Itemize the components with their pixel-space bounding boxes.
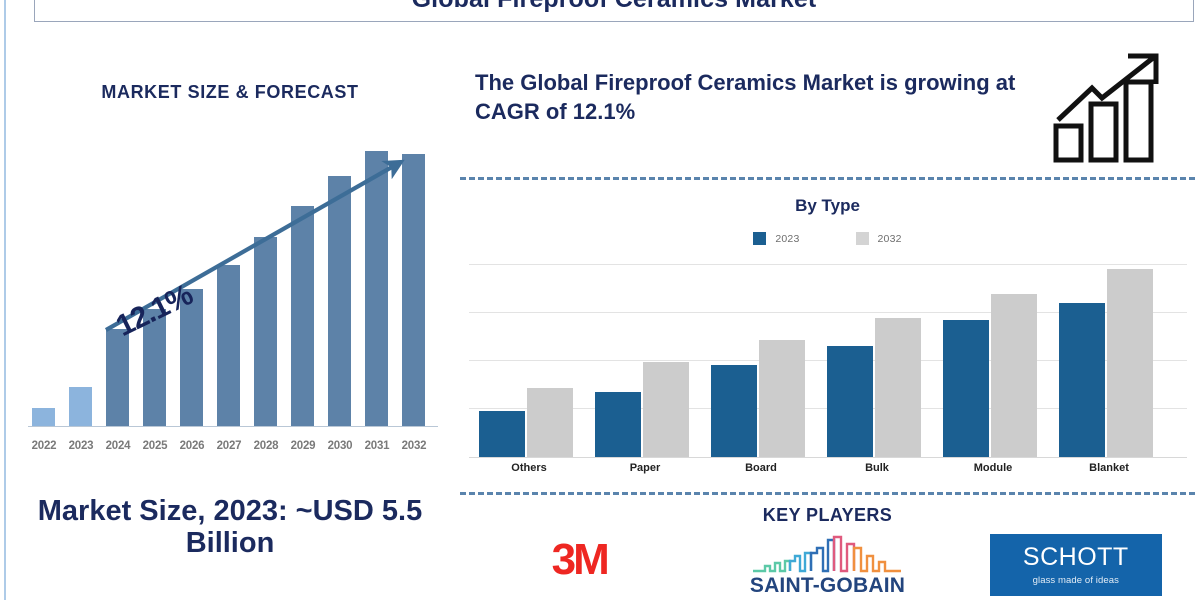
growth-bar-arrow-icon bbox=[1050, 52, 1172, 164]
logo-3m-text: 3M bbox=[552, 538, 607, 582]
gridline-4 bbox=[469, 264, 1187, 265]
schott-box: SCHOTT glass made of ideas bbox=[990, 534, 1162, 596]
bar-2032 bbox=[402, 154, 425, 426]
cagr-statement: The Global Fireproof Ceramics Market is … bbox=[475, 68, 1055, 127]
key-players-logos: 3M SAINT-GOBAIN bbox=[455, 532, 1200, 600]
legend-item-2023: 2023 bbox=[753, 232, 799, 245]
legend-label-2032: 2032 bbox=[878, 233, 902, 245]
x-tick-board: Board bbox=[701, 462, 821, 474]
divider-bottom bbox=[460, 492, 1195, 495]
bar-bulk-2032 bbox=[875, 318, 921, 457]
legend-swatch-2032 bbox=[856, 232, 869, 245]
bar-2022 bbox=[32, 408, 55, 426]
left-accent-rail bbox=[4, 0, 6, 600]
x-tick-bulk: Bulk bbox=[817, 462, 937, 474]
x-tick-2024: 2024 bbox=[100, 440, 136, 452]
bar-module-2032 bbox=[991, 294, 1037, 457]
divider-top bbox=[460, 177, 1195, 180]
bar-2031 bbox=[365, 151, 388, 426]
saint-gobain-text: SAINT-GOBAIN bbox=[750, 575, 905, 596]
x-tick-2028: 2028 bbox=[248, 440, 284, 452]
x-tick-2032: 2032 bbox=[396, 440, 432, 452]
x-tick-2023: 2023 bbox=[63, 440, 99, 452]
key-players-title: KEY PLAYERS bbox=[455, 505, 1200, 526]
chart-baseline bbox=[28, 426, 438, 427]
bar-blanket-2023 bbox=[1059, 303, 1105, 457]
saint-gobain-skyline-icon bbox=[751, 534, 903, 574]
bar-board-2032 bbox=[759, 340, 805, 457]
x-tick-2027: 2027 bbox=[211, 440, 247, 452]
x-tick-2030: 2030 bbox=[322, 440, 358, 452]
market-size-forecast-chart: 2022 2023 2024 2025 2026 2027 2028 2029 … bbox=[18, 150, 443, 480]
x-tick-module: Module bbox=[933, 462, 1053, 474]
logo-schott: SCHOTT glass made of ideas bbox=[971, 532, 1181, 600]
infographic-root: Global Fireproof Ceramics Market MARKET … bbox=[0, 0, 1200, 600]
by-type-legend: 2023 2032 bbox=[455, 232, 1200, 245]
x-tick-2022: 2022 bbox=[26, 440, 62, 452]
x-tick-2025: 2025 bbox=[137, 440, 173, 452]
schott-name: SCHOTT bbox=[1023, 545, 1129, 570]
market-size-heading: MARKET SIZE & FORECAST bbox=[10, 82, 450, 103]
x-tick-2026: 2026 bbox=[174, 440, 210, 452]
bar-others-2023 bbox=[479, 411, 525, 457]
logo-3m: 3M bbox=[474, 532, 684, 600]
logo-saint-gobain: SAINT-GOBAIN bbox=[722, 532, 932, 600]
x-axis-line bbox=[469, 457, 1187, 458]
x-tick-others: Others bbox=[469, 462, 589, 474]
legend-item-2032: 2032 bbox=[856, 232, 902, 245]
by-type-chart bbox=[461, 258, 1196, 458]
x-tick-blanket: Blanket bbox=[1049, 462, 1169, 474]
bar-others-2032 bbox=[527, 388, 573, 457]
legend-swatch-2023 bbox=[753, 232, 766, 245]
legend-label-2023: 2023 bbox=[775, 233, 799, 245]
x-tick-2029: 2029 bbox=[285, 440, 321, 452]
bar-module-2023 bbox=[943, 320, 989, 457]
schott-tagline: glass made of ideas bbox=[1033, 575, 1119, 586]
market-size-panel: MARKET SIZE & FORECAST 2022 2023 2024 20… bbox=[10, 40, 450, 600]
bar-2028 bbox=[254, 237, 277, 426]
x-tick-2031: 2031 bbox=[359, 440, 395, 452]
bar-blanket-2032 bbox=[1107, 269, 1153, 457]
bar-2027 bbox=[217, 265, 240, 426]
bar-board-2023 bbox=[711, 365, 757, 457]
bar-2023 bbox=[69, 387, 92, 426]
market-size-value: Market Size, 2023: ~USD 5.5 Billion bbox=[10, 495, 450, 560]
by-type-title: By Type bbox=[455, 196, 1200, 216]
bar-2029 bbox=[291, 206, 314, 426]
bar-paper-2023 bbox=[595, 392, 641, 457]
bar-bulk-2023 bbox=[827, 346, 873, 457]
right-panel: The Global Fireproof Ceramics Market is … bbox=[455, 0, 1200, 600]
bar-2030 bbox=[328, 176, 351, 426]
bar-paper-2032 bbox=[643, 362, 689, 457]
x-tick-paper: Paper bbox=[585, 462, 705, 474]
